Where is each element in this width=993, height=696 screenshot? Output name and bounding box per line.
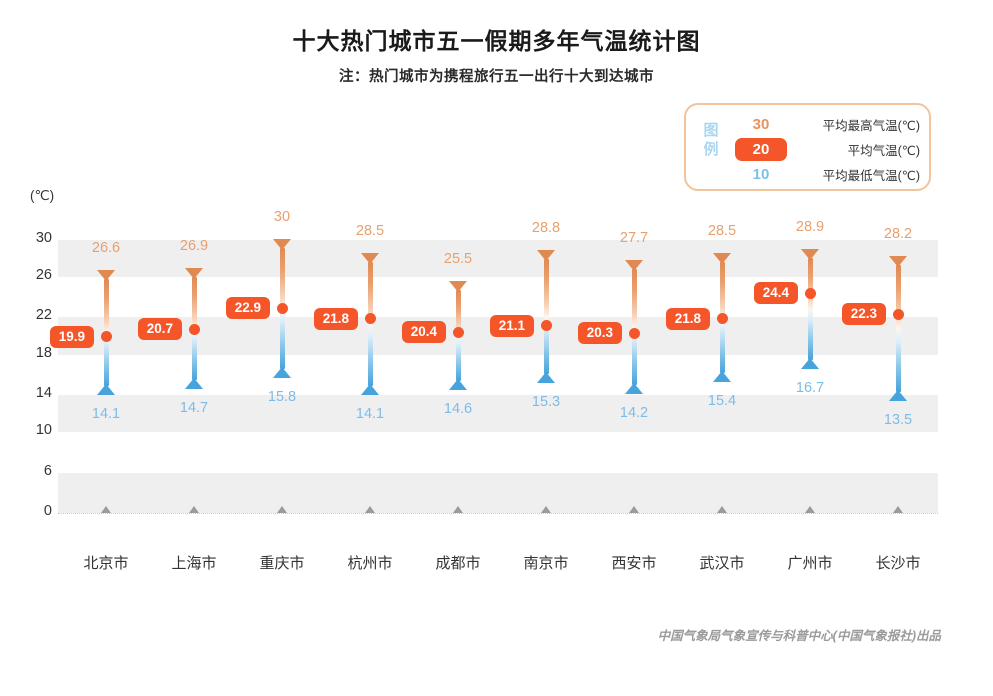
- city-label[interactable]: 成都市: [435, 552, 480, 573]
- min-temp-label: 14.1: [356, 406, 384, 422]
- max-temp-label: 28.8: [532, 220, 560, 236]
- footer-credit: 中国气象局气象宣传与科普中心(中国气象报社)出品: [658, 625, 941, 644]
- legend-item-min: 10 平均最低气温(℃): [730, 161, 926, 187]
- legend-label-max: 平均最高气温(℃): [792, 115, 926, 134]
- mean-temp-dot: [453, 327, 464, 338]
- axis-tick-marker: [893, 506, 903, 513]
- y-tick-label: 10: [20, 422, 52, 438]
- max-temp-marker: [889, 256, 907, 267]
- mean-temp-dot: [717, 313, 728, 324]
- city-label[interactable]: 西安市: [611, 552, 656, 573]
- min-temp-marker: [97, 384, 115, 395]
- y-tick-label: 26: [20, 267, 52, 283]
- legend: 图例 30 平均最高气温(℃) 20 平均气温(℃) 10 平均最低气温(℃): [684, 103, 931, 191]
- mean-temp-label: 22.3: [842, 303, 886, 325]
- axis-tick-marker: [629, 506, 639, 513]
- min-temp-marker: [361, 384, 379, 395]
- min-temp-label: 16.7: [796, 380, 824, 396]
- min-temp-label: 14.2: [620, 405, 648, 421]
- min-temp-marker: [889, 390, 907, 401]
- mean-temp-label: 21.8: [666, 308, 710, 330]
- mean-temp-label: 20.3: [578, 322, 622, 344]
- axis-baseline: [58, 513, 938, 514]
- city-label[interactable]: 北京市: [83, 552, 128, 573]
- max-temp-label: 25.5: [444, 251, 472, 267]
- legend-item-max: 30 平均最高气温(℃): [730, 111, 926, 137]
- mean-temp-dot: [893, 309, 904, 320]
- y-axis-unit: (℃): [30, 188, 54, 204]
- city-label[interactable]: 重庆市: [259, 552, 304, 573]
- city-label[interactable]: 长沙市: [875, 552, 920, 573]
- temperature-range-bar: [808, 258, 813, 360]
- mean-temp-label: 20.4: [402, 321, 446, 343]
- mean-temp-dot: [189, 324, 200, 335]
- city-label[interactable]: 广州市: [787, 552, 832, 573]
- max-temp-marker: [97, 270, 115, 281]
- temperature-range-bar: [896, 265, 901, 392]
- max-temp-label: 30: [274, 209, 290, 225]
- max-temp-marker: [713, 253, 731, 264]
- y-tick-label: 30: [20, 230, 52, 246]
- max-temp-marker: [361, 253, 379, 264]
- mean-temp-dot: [365, 313, 376, 324]
- max-temp-marker: [537, 250, 555, 261]
- max-temp-label: 28.2: [884, 226, 912, 242]
- min-temp-marker: [625, 383, 643, 394]
- axis-tick-marker: [541, 506, 551, 513]
- legend-key-mean: 20: [735, 138, 787, 161]
- min-temp-marker: [537, 372, 555, 383]
- axis-tick-marker: [365, 506, 375, 513]
- legend-key-max: 30: [730, 116, 792, 133]
- max-temp-marker: [449, 281, 467, 292]
- max-temp-label: 28.5: [708, 223, 736, 239]
- mean-temp-dot: [101, 331, 112, 342]
- max-temp-marker: [185, 268, 203, 279]
- axis-tick-marker: [717, 506, 727, 513]
- legend-item-mean: 20 平均气温(℃): [730, 136, 926, 162]
- axis-tick-marker: [189, 506, 199, 513]
- y-tick-label: 18: [20, 345, 52, 361]
- mean-temp-label: 21.8: [314, 308, 358, 330]
- chart-subtitle: 注：热门城市为携程旅行五一出行十大到达城市: [0, 65, 993, 86]
- mean-temp-label: 21.1: [490, 315, 534, 337]
- max-temp-marker: [801, 249, 819, 260]
- y-tick-label: 14: [20, 385, 52, 401]
- legend-label-min: 平均最低气温(℃): [792, 165, 926, 184]
- city-label[interactable]: 武汉市: [699, 552, 744, 573]
- axis-tick-marker: [277, 506, 287, 513]
- mean-temp-dot: [541, 320, 552, 331]
- min-temp-label: 15.4: [708, 393, 736, 409]
- max-temp-marker: [273, 239, 291, 250]
- max-temp-label: 26.6: [92, 240, 120, 256]
- min-temp-marker: [713, 371, 731, 382]
- legend-title: 图例: [700, 121, 722, 159]
- mean-temp-dot: [629, 328, 640, 339]
- mean-temp-dot: [805, 288, 816, 299]
- y-tick-label: 22: [20, 307, 52, 323]
- max-temp-marker: [625, 260, 643, 271]
- mean-temp-dot: [277, 303, 288, 314]
- y-tick-label: 6: [20, 463, 52, 479]
- max-temp-label: 28.9: [796, 219, 824, 235]
- city-label[interactable]: 杭州市: [347, 552, 392, 573]
- city-label[interactable]: 南京市: [523, 552, 568, 573]
- min-temp-marker: [449, 379, 467, 390]
- min-temp-label: 14.7: [180, 400, 208, 416]
- min-temp-marker: [185, 378, 203, 389]
- plot-area: 19.926.614.120.726.914.722.93015.821.828…: [58, 236, 938, 516]
- min-temp-label: 13.5: [884, 412, 912, 428]
- mean-temp-label: 24.4: [754, 282, 798, 304]
- axis-tick-marker: [101, 506, 111, 513]
- mean-temp-label: 22.9: [226, 297, 270, 319]
- page-title: 十大热门城市五一假期多年气温统计图: [0, 22, 993, 56]
- mean-temp-label: 19.9: [50, 326, 94, 348]
- min-temp-label: 14.6: [444, 401, 472, 417]
- min-temp-label: 14.1: [92, 406, 120, 422]
- max-temp-label: 27.7: [620, 230, 648, 246]
- axis-tick-marker: [453, 506, 463, 513]
- axis-tick-marker: [805, 506, 815, 513]
- legend-key-min: 10: [730, 166, 792, 183]
- min-temp-marker: [801, 358, 819, 369]
- min-temp-label: 15.8: [268, 389, 296, 405]
- min-temp-marker: [273, 367, 291, 378]
- max-temp-label: 28.5: [356, 223, 384, 239]
- y-tick-label: 0: [20, 503, 52, 519]
- min-temp-label: 15.3: [532, 394, 560, 410]
- legend-label-mean: 平均气温(℃): [787, 140, 926, 159]
- mean-temp-label: 20.7: [138, 318, 182, 340]
- city-label[interactable]: 上海市: [171, 552, 216, 573]
- temperature-range-bar: [544, 259, 549, 374]
- max-temp-label: 26.9: [180, 238, 208, 254]
